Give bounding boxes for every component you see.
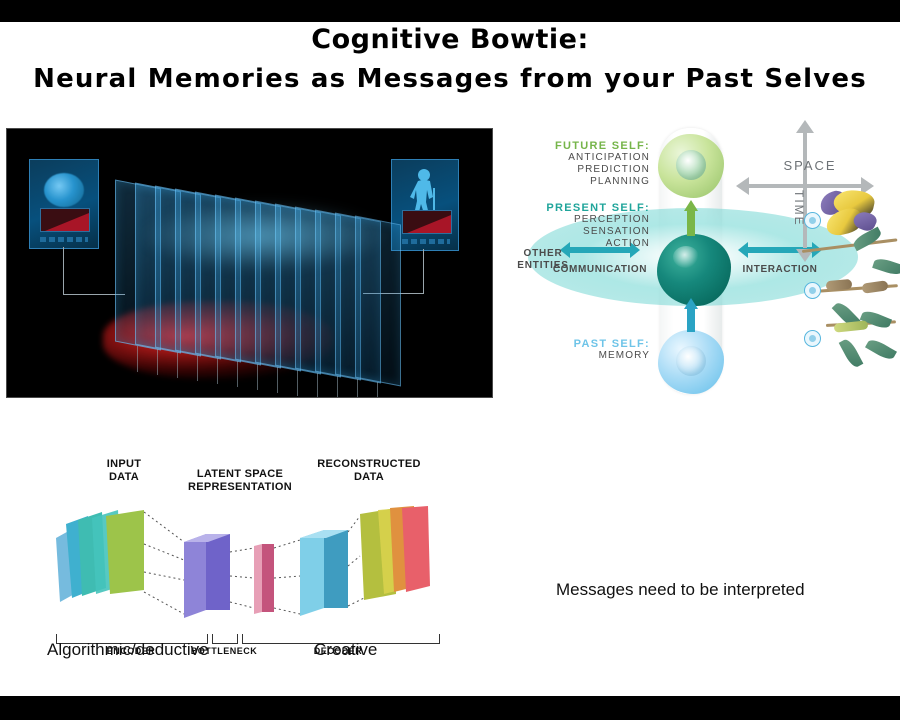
communication-label: COMMUNICATION	[552, 264, 648, 275]
network-layer-stem	[297, 370, 298, 396]
network-layer-stem	[277, 367, 278, 393]
network-glow	[137, 201, 387, 271]
network-layer-stem	[357, 379, 358, 398]
caterpillar-icon	[834, 320, 869, 333]
connector-line	[63, 247, 64, 295]
chart-icon	[40, 208, 90, 232]
network-layer-stem	[217, 358, 218, 384]
deep-neural-network-illustration	[6, 128, 493, 398]
stage-badge-chrysalis-icon	[804, 282, 821, 299]
future-self-cell	[658, 134, 724, 198]
other-entities-line1: OTHER	[524, 248, 563, 259]
autoencoder-diagram: INPUT DATA LATENT SPACE REPRESENTATION R…	[48, 452, 448, 627]
present-self-item: PERCEPTION	[508, 214, 650, 226]
butterfly-icon	[818, 190, 880, 246]
caption-messages-interpreted: Messages need to be interpreted	[556, 580, 805, 600]
present-self-cell	[657, 234, 731, 306]
page-title: Cognitive Bowtie:	[0, 24, 900, 56]
connector-line	[423, 249, 424, 294]
future-self-label-group: FUTURE SELF: ANTICIPATION PREDICTION PLA…	[508, 140, 650, 188]
network-layer-stem	[177, 352, 178, 378]
letterbox-top	[0, 0, 900, 22]
cognitive-self-diagram: FUTURE SELF: ANTICIPATION PREDICTION PLA…	[500, 126, 900, 398]
future-self-item: PREDICTION	[508, 164, 650, 176]
present-self-heading: PRESENT SELF:	[508, 202, 650, 214]
future-self-item: PLANNING	[508, 176, 650, 188]
bracket-bottleneck	[212, 634, 238, 644]
past-self-label-group: PAST SELF: MEMORY	[520, 338, 650, 362]
caption-line: LATENT SPACE	[197, 468, 283, 480]
brain-scan-thumbnail	[29, 159, 99, 249]
brain-icon	[44, 173, 84, 207]
caption-algorithmic: Algorithmic/deductive	[47, 640, 209, 660]
network-layer-stem	[337, 376, 338, 398]
present-self-label-group: PRESENT SELF: PERCEPTION SENSATION ACTIO…	[508, 202, 650, 250]
chrysalis-icon	[861, 280, 888, 294]
network-layer-stem	[157, 349, 158, 375]
slide-title-block: Cognitive Bowtie: Neural Memories as Mes…	[0, 24, 900, 96]
arrow-up-future-icon	[684, 200, 698, 236]
past-self-item: MEMORY	[520, 350, 650, 362]
letterbox-bottom	[0, 696, 900, 720]
caption-line: REPRESENTATION	[188, 481, 292, 493]
network-layer-stem	[197, 355, 198, 381]
present-self-item: SENSATION	[508, 226, 650, 238]
stage-badge-caterpillar-icon	[804, 330, 821, 347]
network-layer-stem	[237, 361, 238, 387]
stage-badge-butterfly-icon	[804, 212, 821, 229]
caption-line: INPUT	[107, 458, 142, 470]
page-subtitle: Neural Memories as Messages from your Pa…	[0, 62, 900, 96]
network-layer-stem	[257, 364, 258, 390]
network-layer-stem	[377, 382, 378, 398]
butterfly-life-cycle-illustration	[800, 184, 900, 380]
autoencoder-caption-latent: LATENT SPACE REPRESENTATION	[172, 468, 308, 494]
past-self-heading: PAST SELF:	[520, 338, 650, 350]
caption-creative: Creative	[314, 640, 377, 660]
future-self-heading: FUTURE SELF:	[508, 140, 650, 152]
legend-bars-icon	[40, 237, 88, 242]
past-self-cell	[658, 330, 724, 394]
arrow-up-past-icon	[684, 298, 698, 332]
network-layer-stem	[137, 346, 138, 372]
autoencoder-caption-input: INPUT DATA	[84, 458, 164, 484]
future-self-item: ANTICIPATION	[508, 152, 650, 164]
autoencoder-caption-reconstructed: RECONSTRUCTED DATA	[306, 458, 432, 484]
caption-line: DATA	[354, 471, 384, 483]
network-layer-stem	[317, 373, 318, 398]
autoencoder-shapes	[48, 494, 448, 624]
axis-label-space: SPACE	[758, 158, 862, 173]
slide-root: Cognitive Bowtie: Neural Memories as Mes…	[0, 0, 900, 720]
caption-line: DATA	[109, 471, 139, 483]
caption-line: RECONSTRUCTED	[317, 458, 421, 470]
